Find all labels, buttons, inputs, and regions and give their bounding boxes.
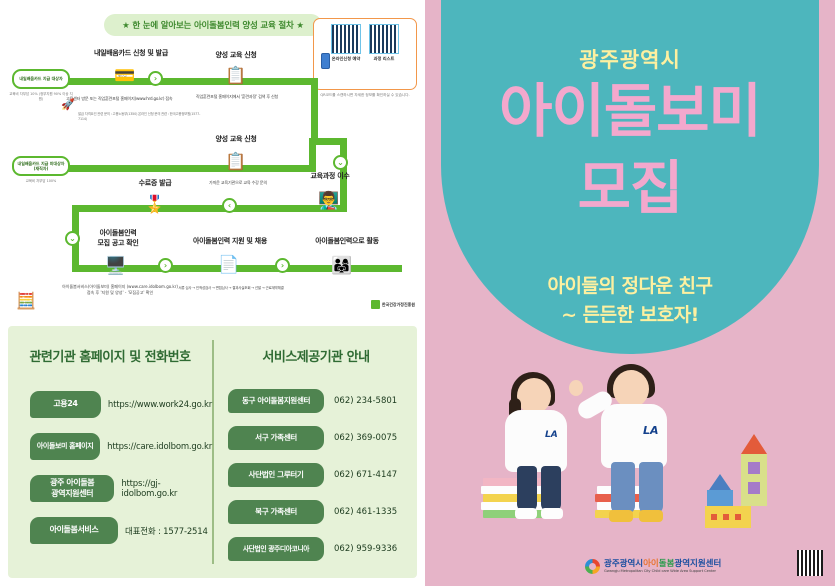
footer-logo-part2: 아이 xyxy=(643,559,659,569)
flow-rail xyxy=(309,138,347,145)
abacus-icon: 🧮 xyxy=(12,288,40,314)
monitor-cursor-icon: 🖥️ xyxy=(100,252,132,280)
certificate-icon: 🎖️ xyxy=(140,190,170,220)
center-tag: 동구 아이돌봄지원센터 xyxy=(228,389,324,413)
center-phone: 062) 369-0075 xyxy=(334,433,397,443)
document-pen-icon: 📋 xyxy=(223,62,249,90)
poster-panel: 광주광역시 아이돌보미 모집 아이들의 정다운 친구 ~ 든든한 보호자! xyxy=(425,0,835,586)
footer-logo-part1: 광주광역시 xyxy=(604,559,643,569)
la-logo-text: LA xyxy=(643,424,659,437)
center-phone: 062) 234-5801 xyxy=(334,396,397,406)
qr-code-box: 온라인신청 예약 과정 리스트 xyxy=(313,18,417,90)
toy-castle-icon xyxy=(693,434,783,526)
poster-title-line1: 아이돌보미 xyxy=(425,80,835,143)
table-row: 아이돌봄서비스 대표전화 : 1577-2514 xyxy=(8,517,212,544)
family-icon: 👨‍👩‍👧 xyxy=(320,250,364,282)
org-value[interactable]: https://gj-idolbom.go.kr xyxy=(121,479,212,499)
poster-title: 아이돌보미 모집 xyxy=(425,80,835,219)
step-subcaption: 발급 자격요건 관련 문의 : 고용노동부(1350) 온라인 신청 문의 관련… xyxy=(78,112,202,122)
step-title: 양성 교육 신청 xyxy=(196,134,276,144)
step-caption: 직업훈련포털 홈페이지에서 '훈련과정' 검색 후 신청 xyxy=(176,94,298,100)
step-title: 아이돌봄인력 지원 및 채용 xyxy=(175,236,285,246)
poster-page: ★ 한 눈에 알아보는 아이돌봄인력 양성 교육 절차 ★ 온라인신청 예약 과… xyxy=(0,0,835,586)
qr-label: 온라인신청 예약 xyxy=(331,56,361,61)
poster-subtitle: 아이들의 정다운 친구 ~ 든든한 보호자! xyxy=(425,272,835,331)
entry-pill: 내일배움카드 지급 대상자 xyxy=(12,69,70,89)
info-column-left: 관련기관 홈페이지 및 전화번호 고용24 https://www.work24… xyxy=(8,326,212,578)
table-row: 아이돌보미 홈페이지 https://care.idolbom.go.kr xyxy=(8,433,212,460)
info-column-right: 서비스제공기관 안내 동구 아이돌봄지원센터 062) 234-5801 서구 … xyxy=(214,326,418,578)
chevron-right-icon: › xyxy=(158,258,173,273)
footer-logo-en: Gwangju Metropolitan City Child care Wid… xyxy=(604,569,721,573)
kca-logo: 한국건강가정진흥원 xyxy=(371,300,415,309)
table-row: 동구 아이돌봄지원센터 062) 234-5801 xyxy=(214,389,418,413)
center-phone: 062) 461-1335 xyxy=(334,507,397,517)
org-tag: 아이돌봄서비스 xyxy=(30,517,118,544)
poster-subtitle-line2: ~ 든든한 보호자! xyxy=(425,301,835,330)
footer-logo-part4: 광역지원센터 xyxy=(674,559,721,569)
qr-item[interactable]: 과정 리스트 xyxy=(369,24,399,61)
info-heading-left: 관련기관 홈페이지 및 전화번호 xyxy=(8,346,212,365)
flowchart-title: ★ 한 눈에 알아보는 아이돌봄인력 양성 교육 절차 ★ xyxy=(104,14,322,36)
step-title: 수료증 발급 xyxy=(120,178,190,188)
table-row: 사단법인 광주디아코니아 062) 959-9336 xyxy=(214,537,418,561)
classroom-icon: 👨‍🏫 xyxy=(308,184,350,218)
step-caption: 가까운 교육기관으로 교육 수강 문의 xyxy=(186,180,290,186)
chevron-left-icon: ‹ xyxy=(222,198,237,213)
phone-icon xyxy=(321,53,330,69)
poster-subtitle-line1: 아이들의 정다운 친구 xyxy=(425,272,835,301)
center-tag: 사단법인 광주디아코니아 xyxy=(228,537,324,561)
step-title: 아이돌봄인력 모집 공고 확인 xyxy=(80,228,156,248)
step-title: 내일배움카드 신청 및 발급 xyxy=(68,48,194,58)
qr-label: 과정 리스트 xyxy=(369,56,399,61)
table-row: 고용24 https://www.work24.go.kr xyxy=(8,391,212,418)
entry-pill: 내일배움카드 지급 미대상자 (재직자) xyxy=(12,156,70,176)
chevron-right-icon: › xyxy=(275,258,290,273)
org-value[interactable]: https://care.idolbom.go.kr xyxy=(107,442,212,452)
qr-code-icon[interactable] xyxy=(369,24,399,54)
chevron-down-icon: ⌄ xyxy=(65,231,80,246)
qr-code-icon[interactable] xyxy=(331,24,361,54)
qr-note: QR코드를 스캔하시면 자세한 정보를 확인하실 수 있습니다. xyxy=(313,93,417,98)
kca-square-icon xyxy=(371,300,380,309)
step-title: 아이돌봄인력으로 활동 xyxy=(292,236,402,246)
resume-icon: 📄 xyxy=(215,250,243,280)
gwangju-emblem-icon xyxy=(585,559,600,574)
la-logo-text: LA xyxy=(545,430,558,440)
footer-logo: 광주광역시아이돌봄광역지원센터 Gwangju Metropolitan Cit… xyxy=(585,559,721,574)
chevron-right-icon: › xyxy=(148,71,163,86)
org-tag: 고용24 xyxy=(30,391,101,418)
step-caption: 서류 심사 → 인적성검사 → 면접심사 → 결과사실조회 → 선발 → 근로계… xyxy=(166,286,296,291)
center-tag: 사단법인 그루터기 xyxy=(228,463,324,487)
center-phone: 062) 959-9336 xyxy=(334,544,397,554)
info-heading-right: 서비스제공기관 안내 xyxy=(214,346,418,365)
info-card: 관련기관 홈페이지 및 전화번호 고용24 https://www.work24… xyxy=(8,326,417,578)
poster-title-line2: 모집 xyxy=(425,157,835,220)
step-caption: 아이돌봄서비스(아이돌보미) 홈페이지 (www.care.idolbom.go… xyxy=(60,284,180,296)
center-tag: 서구 가족센터 xyxy=(228,426,324,450)
table-row: 북구 가족센터 062) 461-1335 xyxy=(214,500,418,524)
org-value[interactable]: https://www.work24.go.kr xyxy=(108,400,212,410)
footer-logo-part3: 돌봄 xyxy=(659,559,675,569)
flow-rail xyxy=(72,205,347,212)
chevron-down-icon: ⌄ xyxy=(333,155,348,170)
table-row: 서구 가족센터 062) 369-0075 xyxy=(214,426,418,450)
org-tag: 아이돌보미 홈페이지 xyxy=(30,433,100,460)
infographic-panel: ★ 한 눈에 알아보는 아이돌봄인력 양성 교육 절차 ★ 온라인신청 예약 과… xyxy=(0,0,425,586)
org-value: 대표전화 : 1577-2514 xyxy=(125,525,208,537)
center-phone: 062) 671-4147 xyxy=(334,470,397,480)
credit-card-icon: 💳 xyxy=(108,62,142,90)
step-title: 양성 교육 신청 xyxy=(196,50,276,60)
rocket-icon: 🚀 xyxy=(60,96,76,112)
entry-pill-sub: 교육비 자부담 100% xyxy=(8,179,74,184)
flow-rail xyxy=(311,78,318,138)
children-photo: LA LA xyxy=(425,356,835,546)
kca-logo-text: 한국건강가정진흥원 xyxy=(382,302,415,308)
step-title: 교육과정 이수 xyxy=(290,171,370,181)
table-row: 광주 아이돌봄 광역지원센터 https://gj-idolbom.go.kr xyxy=(8,475,212,502)
qr-item[interactable]: 온라인신청 예약 xyxy=(331,24,361,61)
table-row: 사단법인 그루터기 062) 671-4147 xyxy=(214,463,418,487)
document-pen-icon: 📋 xyxy=(223,148,249,176)
org-tag: 광주 아이돌봄 광역지원센터 xyxy=(30,475,114,502)
footer-logo-text: 광주광역시아이돌봄광역지원센터 Gwangju Metropolitan Cit… xyxy=(604,560,721,573)
center-tag: 북구 가족센터 xyxy=(228,500,324,524)
poster-city-label: 광주광역시 xyxy=(425,44,835,74)
footer-qr-icon[interactable] xyxy=(797,550,823,576)
